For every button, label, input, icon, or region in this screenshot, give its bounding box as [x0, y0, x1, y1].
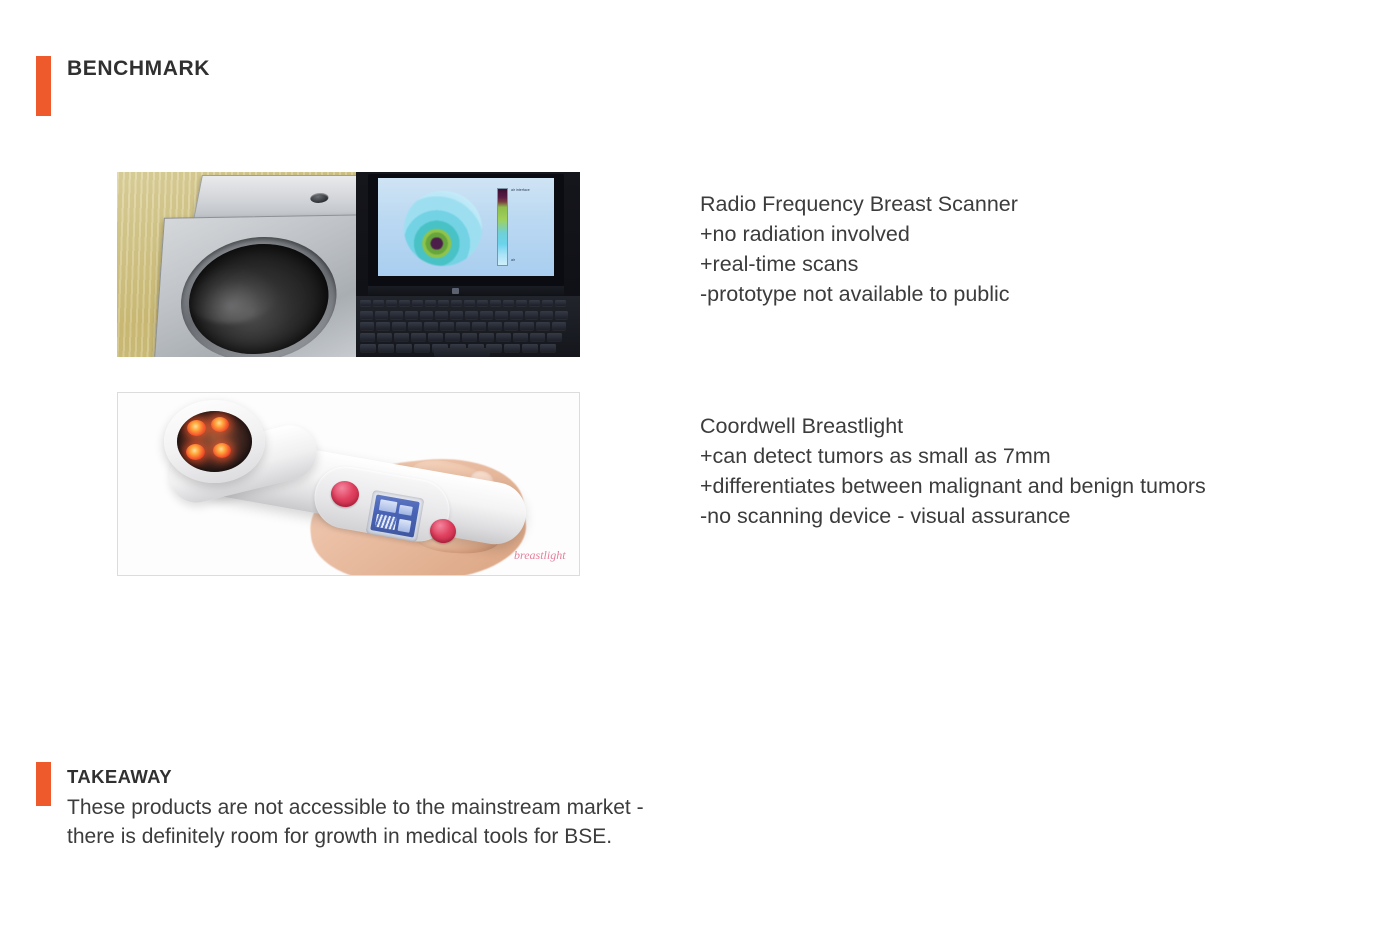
laptop-screen-bezel: air interface air — [368, 174, 564, 286]
breastlight-brand-mark: breastlight — [514, 548, 566, 563]
keyboard-key — [411, 333, 426, 341]
keyboard-key — [490, 300, 501, 306]
keyboard-key — [360, 311, 373, 319]
keyboard-key — [465, 311, 478, 319]
scan-heatmap-blob — [404, 191, 482, 266]
keyboard-key — [373, 300, 384, 306]
keyboard-key — [394, 333, 409, 341]
keyboard-key — [495, 311, 508, 319]
keyboard-key — [377, 333, 392, 341]
keyboard-key — [510, 311, 523, 319]
keyboard-key — [450, 311, 463, 319]
keyboard-key — [480, 311, 493, 319]
keyboard-key — [376, 322, 390, 330]
keyboard-key — [552, 322, 566, 330]
keyboard-key — [360, 322, 374, 330]
lcd-segment-c — [375, 514, 397, 530]
keyboard-key — [408, 322, 422, 330]
keyboard-key — [516, 300, 527, 306]
keyboard-key — [504, 322, 518, 330]
keyboard-key — [445, 333, 460, 341]
keyboard-key — [390, 311, 403, 319]
takeaway-body: These products are not accessible to the… — [67, 793, 677, 851]
keyboard-key — [479, 333, 494, 341]
keyboard-row-numbers — [360, 311, 568, 319]
keyboard-key — [396, 344, 412, 352]
keyboard-key — [472, 322, 486, 330]
keyboard-row-qwerty — [360, 322, 566, 330]
keyboard-key — [504, 344, 520, 352]
keyboard-key — [414, 344, 430, 352]
breastlight-lens-window — [177, 411, 252, 472]
page-title: BENCHMARK — [67, 57, 210, 81]
keyboard-key — [555, 311, 568, 319]
lcd-segment-d — [397, 519, 411, 533]
lens-glow-overlay — [177, 411, 252, 472]
keyboard-key — [425, 300, 436, 306]
keyboard-key — [529, 300, 540, 306]
keyboard-key — [456, 322, 470, 330]
breastlight-lamp-head — [164, 400, 265, 483]
breastlight-lcd-screen — [370, 494, 420, 537]
laptop-computer: air interface air — [356, 172, 580, 357]
keyboard-key — [464, 300, 475, 306]
keyboard-key — [412, 300, 423, 306]
coordwell-breastlight-description: Coordwell Breastlight +can detect tumors… — [700, 411, 1260, 531]
keyboard-key — [542, 300, 553, 306]
laptop-trackpad — [434, 348, 490, 357]
benchmark-accent-bar — [36, 56, 51, 116]
keyboard-key — [488, 322, 502, 330]
radio-frequency-breast-scanner-description: Radio Frequency Breast Scanner +no radia… — [700, 189, 1300, 309]
lid-aperture-hole — [309, 193, 329, 203]
colorbar-bottom-label: air — [511, 258, 515, 262]
scanner-metal-plate — [154, 214, 369, 357]
laptop-hinge-bar — [368, 286, 564, 296]
keyboard-key — [378, 344, 394, 352]
keyboard-key — [424, 322, 438, 330]
coordwell-breastlight-photo: breastlight — [117, 392, 580, 576]
keyboard-key — [435, 311, 448, 319]
laptop-screen-scan-image: air interface air — [378, 178, 554, 276]
keyboard-key — [530, 333, 545, 341]
takeaway-title: TAKEAWAY — [67, 766, 172, 788]
keyboard-key — [360, 300, 371, 306]
keyboard-key — [440, 322, 454, 330]
keyboard-key — [451, 300, 462, 306]
lcd-segment-b — [398, 505, 412, 516]
keyboard-key — [360, 333, 375, 341]
keyboard-row-function — [360, 300, 566, 308]
keyboard-key — [375, 311, 388, 319]
laptop-brand-logo — [452, 288, 459, 294]
keyboard-key — [428, 333, 443, 341]
keyboard-key — [513, 333, 528, 341]
keyboard-key — [536, 322, 550, 330]
radio-frequency-breast-scanner-photo: air interface air — [117, 172, 580, 357]
keyboard-key — [520, 322, 534, 330]
keyboard-key — [503, 300, 514, 306]
keyboard-row-home — [360, 333, 562, 341]
keyboard-key — [405, 311, 418, 319]
breastlight-lcd-bezel — [366, 490, 425, 542]
colorbar-top-label: air interface — [511, 188, 530, 192]
keyboard-key — [540, 344, 556, 352]
keyboard-key — [525, 311, 538, 319]
keyboard-key — [386, 300, 397, 306]
takeaway-accent-bar — [36, 762, 51, 806]
keyboard-key — [420, 311, 433, 319]
breastlight-photo-canvas: breastlight — [118, 393, 579, 575]
rf-scanner-photo-canvas: air interface air — [117, 172, 580, 357]
keyboard-key — [555, 300, 566, 306]
keyboard-key — [477, 300, 488, 306]
keyboard-key — [522, 344, 538, 352]
keyboard-key — [496, 333, 511, 341]
keyboard-key — [438, 300, 449, 306]
lcd-segment-a — [379, 499, 398, 513]
keyboard-key — [462, 333, 477, 341]
keyboard-key — [540, 311, 553, 319]
scan-colorbar — [497, 188, 508, 266]
keyboard-key — [360, 344, 376, 352]
keyboard-key — [392, 322, 406, 330]
keyboard-key — [399, 300, 410, 306]
keyboard-key — [547, 333, 562, 341]
